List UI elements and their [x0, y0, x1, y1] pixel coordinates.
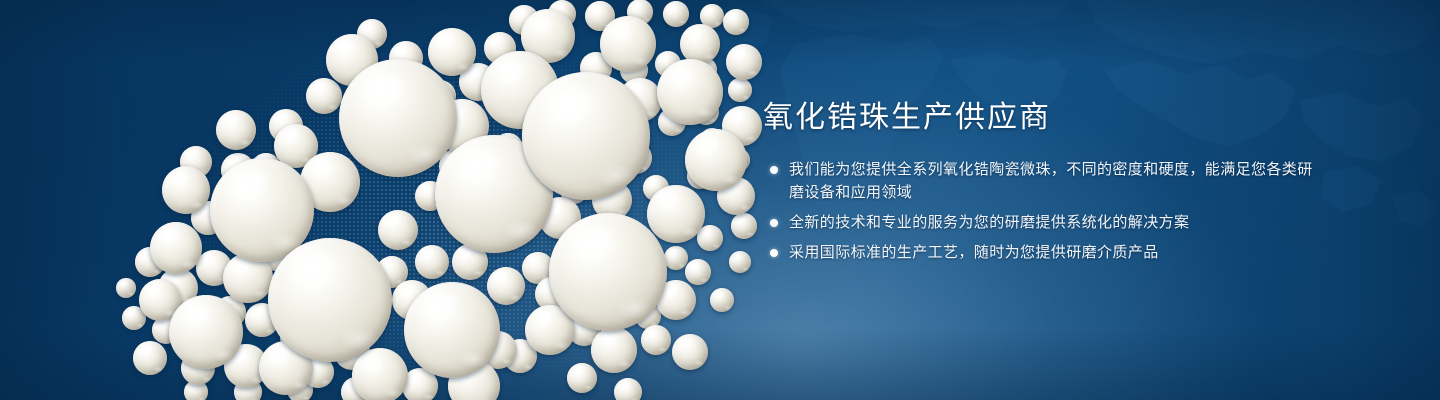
ceramic-bead	[685, 129, 747, 191]
ceramic-bead	[697, 225, 723, 251]
ceramic-bead	[487, 267, 525, 305]
ceramic-bead	[352, 348, 408, 400]
bullet-dot-icon	[770, 166, 778, 174]
list-item-label: 全新的技术和专业的服务为您的研磨提供系统化的解决方案	[789, 214, 1189, 231]
page-title: 氧化锆珠生产供应商	[763, 100, 1323, 136]
ceramic-bead	[729, 251, 751, 273]
ceramic-bead	[428, 28, 476, 76]
ceramic-bead	[680, 24, 720, 64]
ceramic-bead	[404, 282, 500, 378]
ceramic-bead	[116, 278, 136, 298]
ceramic-bead	[600, 16, 656, 72]
ceramic-bead	[726, 44, 762, 80]
ceramic-bead	[723, 9, 749, 35]
list-item: 我们能为您提供全系列氧化锆陶瓷微珠，不同的密度和硬度，能满足您各类研磨设备和应用…	[763, 158, 1323, 204]
bullet-dot-icon	[770, 249, 778, 257]
ceramic-bead	[728, 78, 752, 102]
ceramic-bead	[591, 327, 637, 373]
ceramic-bead	[710, 288, 734, 312]
hero-banner: 氧化锆珠生产供应商 我们能为您提供全系列氧化锆陶瓷微珠，不同的密度和硬度，能满足…	[0, 0, 1440, 400]
bullet-dot-icon	[770, 219, 778, 227]
ceramic-bead	[169, 295, 243, 369]
ceramic-bead	[685, 259, 711, 285]
banner-copy: 氧化锆珠生产供应商 我们能为您提供全系列氧化锆陶瓷微珠，不同的密度和硬度，能满足…	[763, 100, 1323, 271]
ceramic-bead	[216, 110, 256, 150]
ceramic-bead	[663, 1, 689, 27]
ceramic-bead	[641, 325, 671, 355]
ceramic-bead	[657, 59, 723, 125]
ceramic-bead	[150, 222, 202, 274]
ceramic-bead	[339, 59, 457, 177]
ceramic-bead	[549, 213, 667, 331]
ceramic-bead	[306, 78, 342, 114]
list-item-label: 我们能为您提供全系列氧化锆陶瓷微珠，不同的密度和硬度，能满足您各类研磨设备和应用…	[789, 161, 1313, 201]
ceramic-bead	[614, 378, 642, 400]
ceramic-bead	[162, 166, 210, 214]
list-item: 采用国际标准的生产工艺，随时为您提供研磨介质产品	[763, 241, 1323, 264]
ceramic-bead	[647, 185, 705, 243]
feature-list: 我们能为您提供全系列氧化锆陶瓷微珠，不同的密度和硬度，能满足您各类研磨设备和应用…	[763, 158, 1323, 264]
ceramic-bead	[378, 210, 418, 250]
list-item: 全新的技术和专业的服务为您的研磨提供系统化的解决方案	[763, 211, 1323, 234]
ceramic-bead	[415, 245, 449, 279]
ceramic-bead	[731, 213, 757, 239]
list-item-label: 采用国际标准的生产工艺，随时为您提供研磨介质产品	[789, 244, 1159, 261]
ceramic-bead	[567, 363, 597, 393]
ceramic-bead	[664, 246, 688, 270]
ceramic-bead	[268, 238, 392, 362]
ceramic-bead	[672, 334, 708, 370]
ceramic-bead	[133, 341, 167, 375]
ceramic-bead	[522, 72, 650, 200]
